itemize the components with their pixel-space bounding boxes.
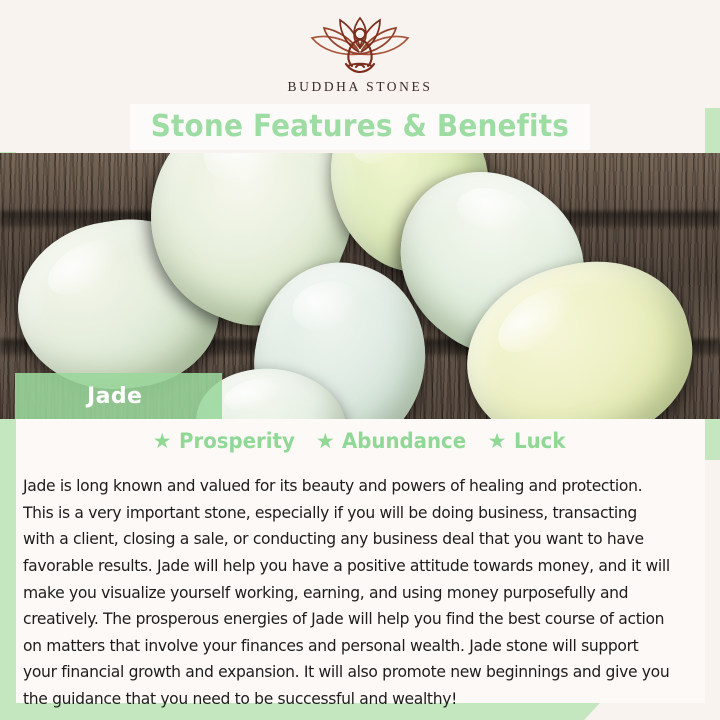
brand-name: BUDDHA STONES (250, 79, 470, 95)
content-panel: ★ Prosperity ★ Abundance ★ Luck Jade is … (16, 419, 705, 703)
stone-name: Jade (87, 384, 142, 409)
page-title: Stone Features & Benefits (151, 112, 569, 142)
benefit-item: ★ Abundance (316, 431, 474, 452)
benefit-label: Luck (514, 431, 565, 452)
brand-logo: BUDDHA STONES (250, 14, 470, 95)
star-icon: ★ (488, 431, 507, 452)
stone-photo: Jade (0, 153, 720, 419)
star-icon: ★ (316, 431, 335, 452)
star-icon: ★ (153, 431, 172, 452)
stone-name-banner: Jade (15, 373, 222, 419)
benefit-label: Prosperity (179, 431, 295, 452)
title-banner: Stone Features & Benefits (130, 104, 590, 150)
header: BUDDHA STONES (0, 0, 720, 108)
infographic-page: BUDDHA STONES Stone Features & Benefits … (0, 0, 720, 720)
stone-description: Jade is long known and valued for its be… (23, 473, 670, 712)
lotus-meditation-icon (300, 14, 420, 76)
benefit-item: ★ Luck (488, 431, 569, 452)
benefits-list: ★ Prosperity ★ Abundance ★ Luck (16, 431, 705, 452)
benefit-label: Abundance (342, 431, 466, 452)
benefit-item: ★ Prosperity (153, 431, 302, 452)
